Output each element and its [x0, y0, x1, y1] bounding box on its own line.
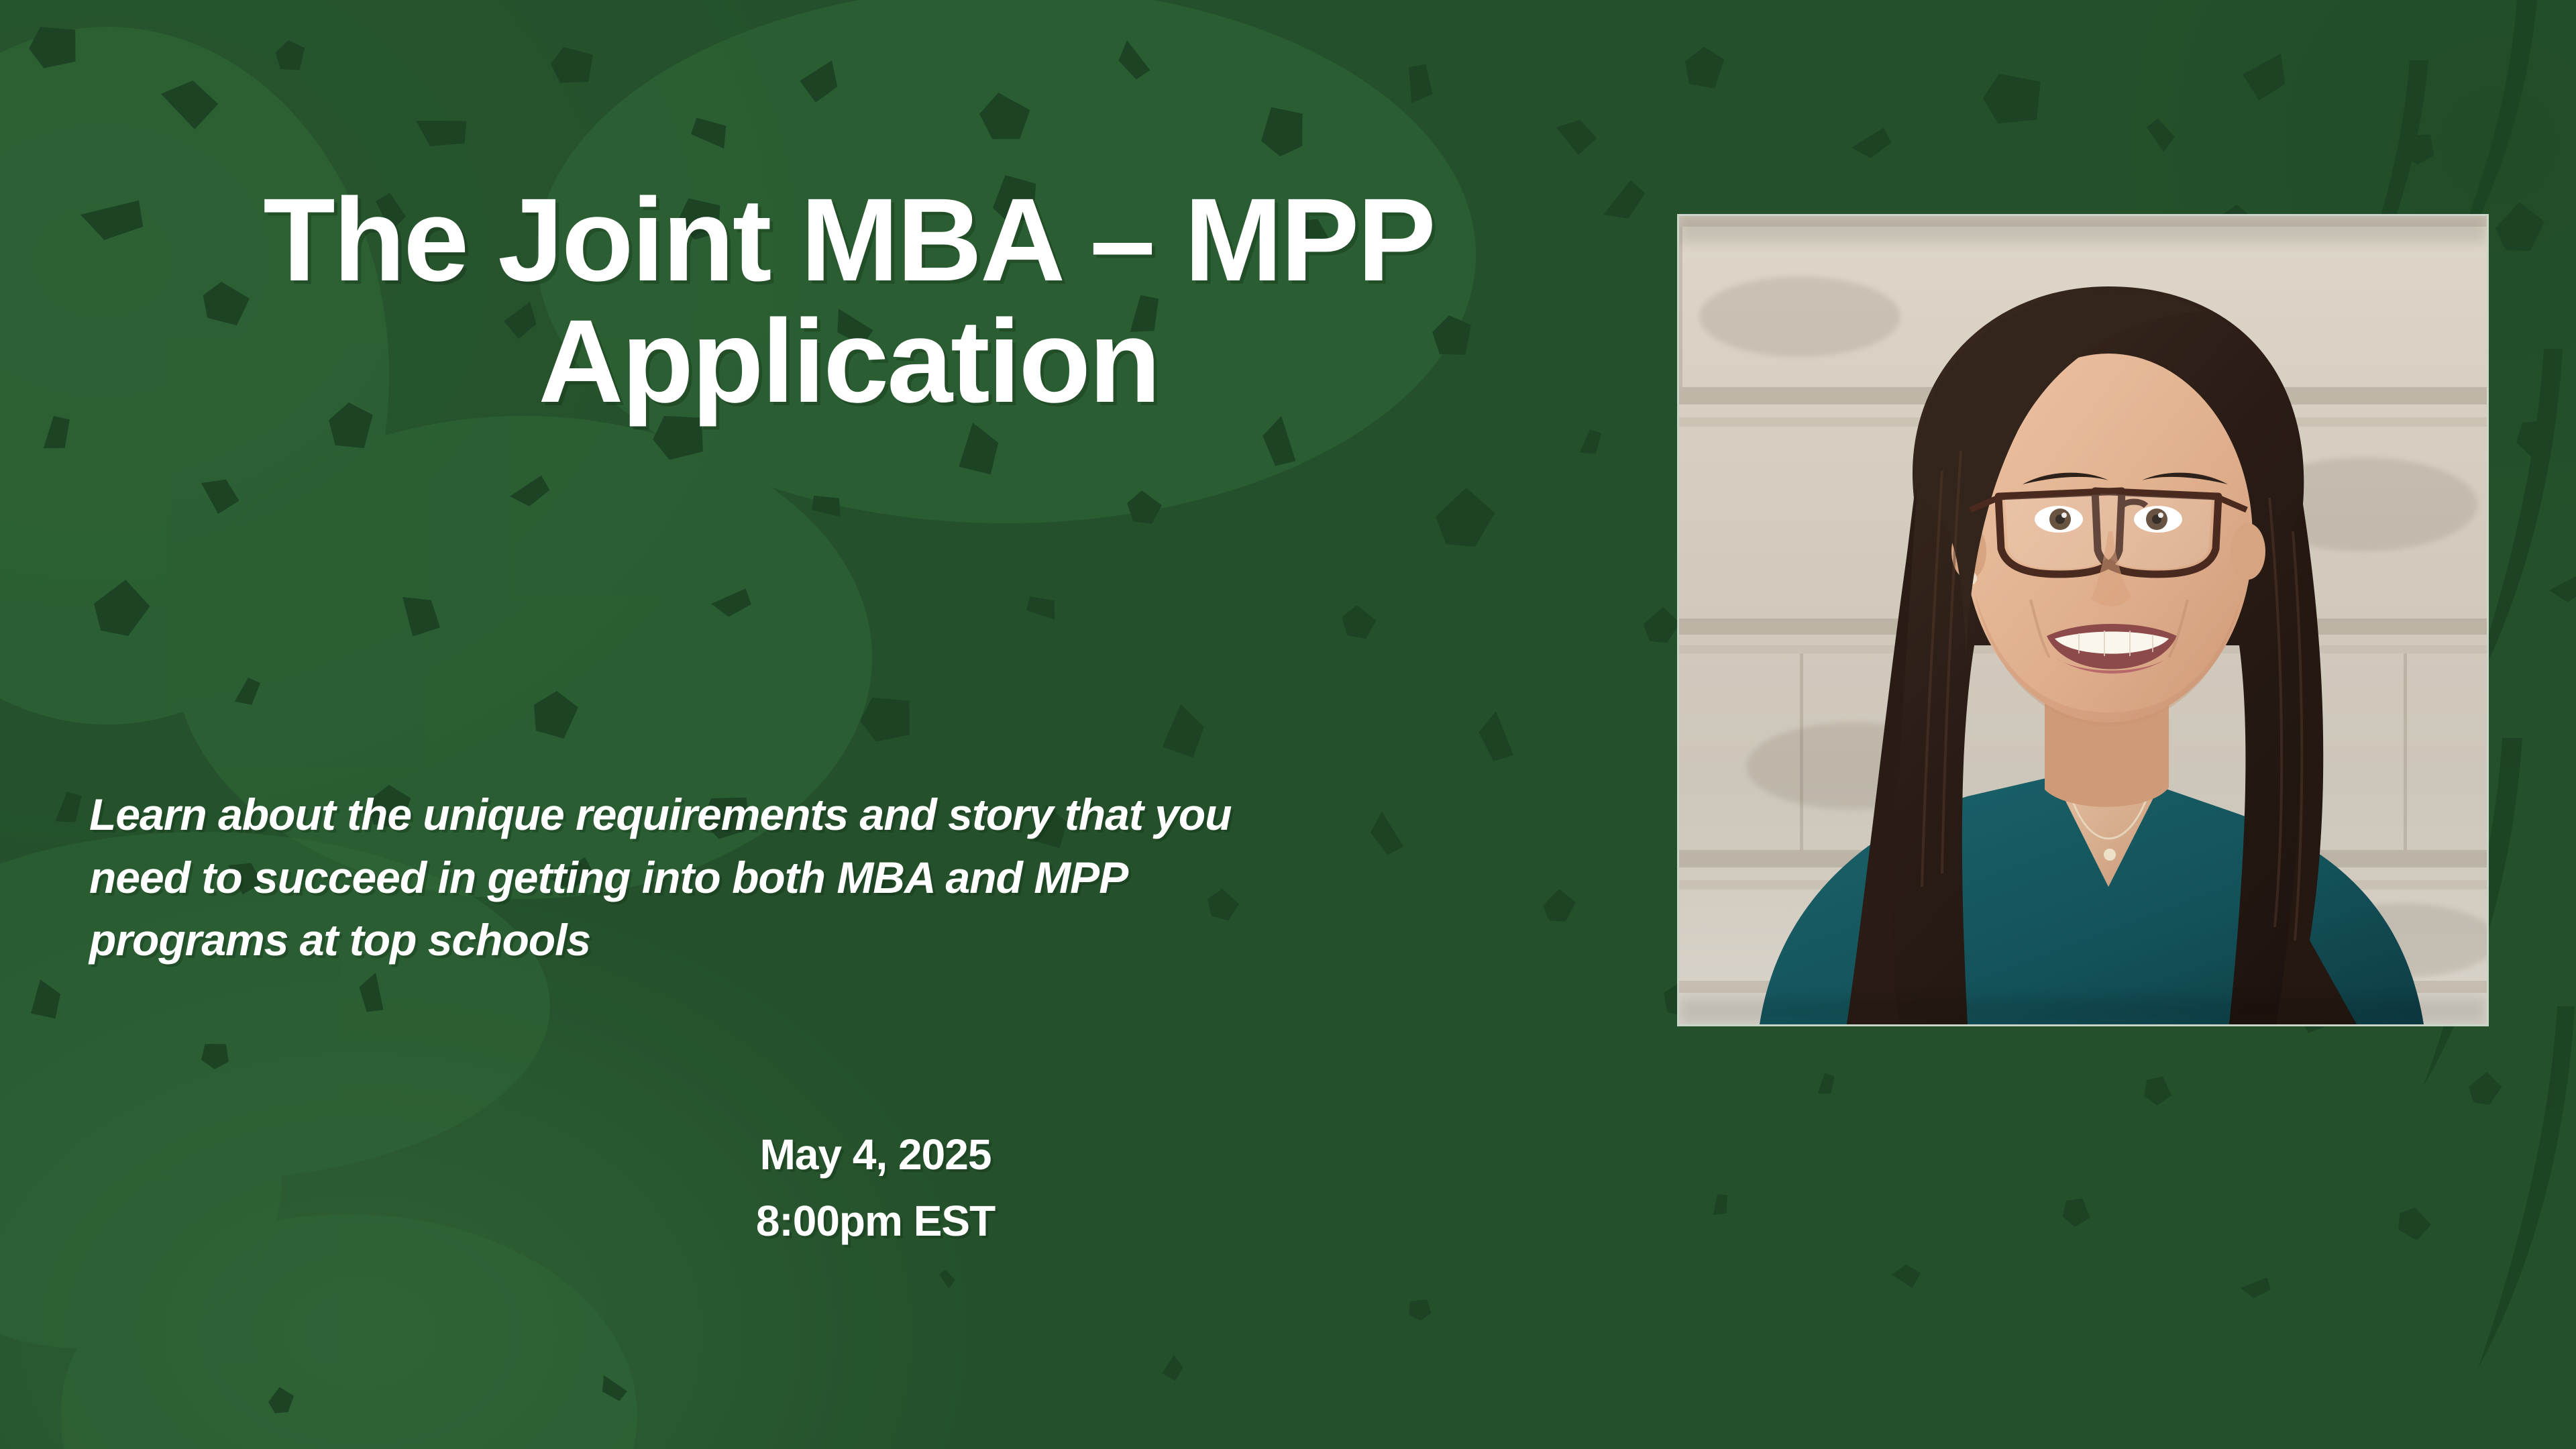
subtitle: Learn about the unique requirements and …	[89, 784, 1625, 972]
poster-content: The Joint MBA – MPP Application Learn ab…	[0, 0, 2576, 1449]
title-line-2: Application	[101, 301, 1597, 423]
event-datetime: May 4, 2025 8:00pm EST	[429, 1122, 1322, 1254]
event-time: 8:00pm EST	[429, 1188, 1322, 1254]
subtitle-line-2: need to succeed in getting into both MBA…	[89, 847, 1625, 910]
event-date: May 4, 2025	[429, 1122, 1322, 1188]
speaker-headshot-photo	[1679, 216, 2487, 1024]
subtitle-line-3: programs at top schools	[89, 909, 1625, 972]
subtitle-line-1: Learn about the unique requirements and …	[89, 784, 1625, 847]
page-title: The Joint MBA – MPP Application	[101, 180, 1597, 423]
title-line-1: The Joint MBA – MPP	[101, 180, 1597, 301]
event-poster: The Joint MBA – MPP Application Learn ab…	[0, 0, 2576, 1449]
